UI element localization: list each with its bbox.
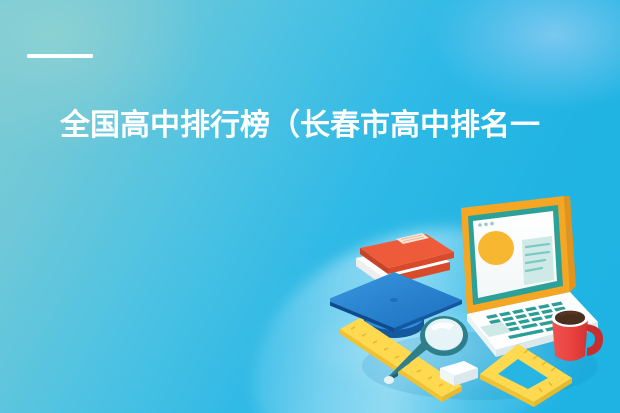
page-title: 全国高中排行榜（长春市高中排名一 [60, 105, 620, 147]
coffee-mug-icon [552, 309, 604, 361]
education-illustration [330, 196, 620, 413]
title-divider-rule [27, 54, 93, 58]
screen-avatar [478, 231, 514, 265]
banner: 全国高中排行榜（长春市高中排名一 [0, 0, 620, 413]
